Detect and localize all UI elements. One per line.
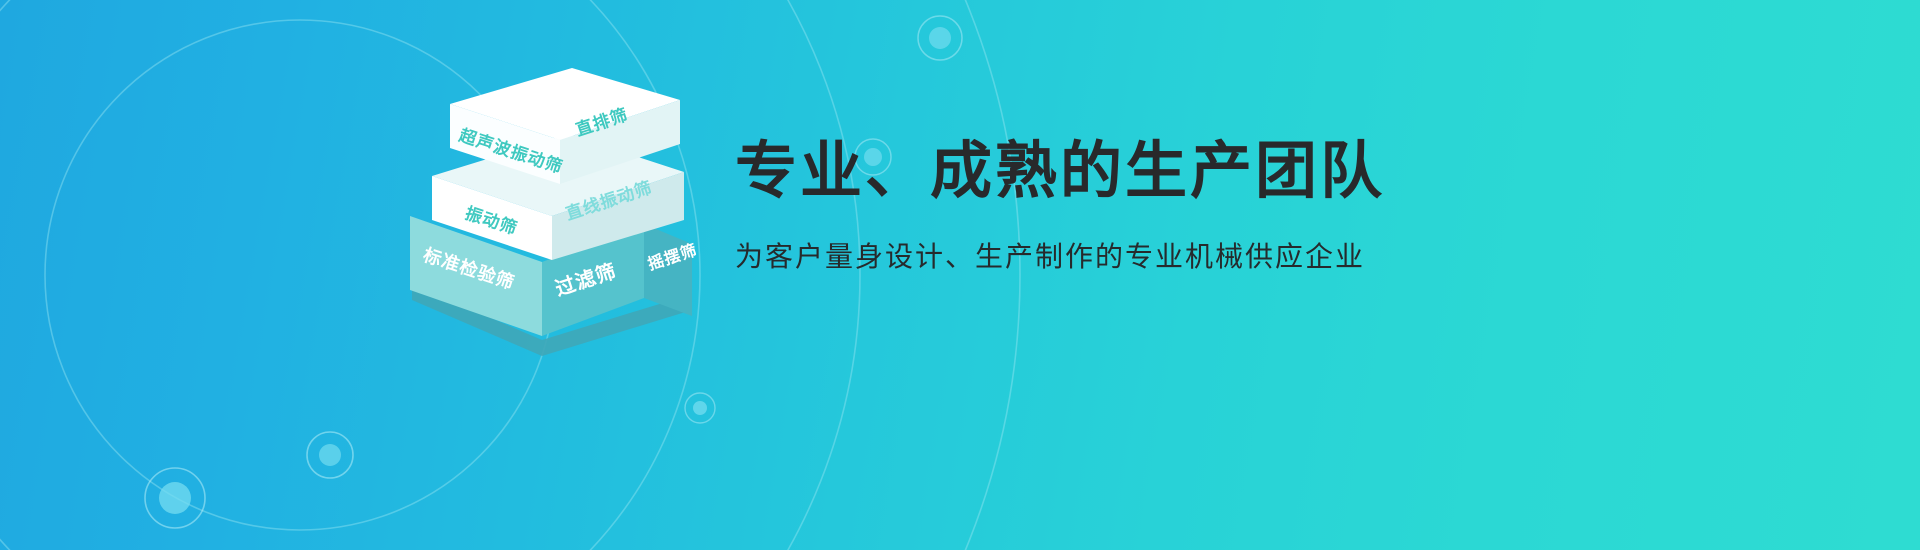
node-dot — [307, 432, 353, 478]
banner-subline: 为客户量身设计、生产制作的专业机械供应企业 — [735, 240, 1475, 274]
banner-headline: 专业、成熟的生产团队 — [735, 137, 1475, 206]
node-dot — [685, 393, 715, 423]
background-decoration — [0, 0, 1920, 550]
node-dot — [145, 468, 205, 528]
hero-banner: 超声波振动筛 直排筛 振动筛 直线振动筛 标准检验筛 过滤筛 摇摆筛 专业、成熟… — [0, 0, 1920, 550]
node-dot — [918, 16, 962, 60]
product-cube-graphic: 超声波振动筛 直排筛 振动筛 直线振动筛 标准检验筛 过滤筛 摇摆筛 — [392, 48, 722, 338]
banner-copy: 专业、成熟的生产团队 为客户量身设计、生产制作的专业机械供应企业 — [735, 137, 1475, 274]
